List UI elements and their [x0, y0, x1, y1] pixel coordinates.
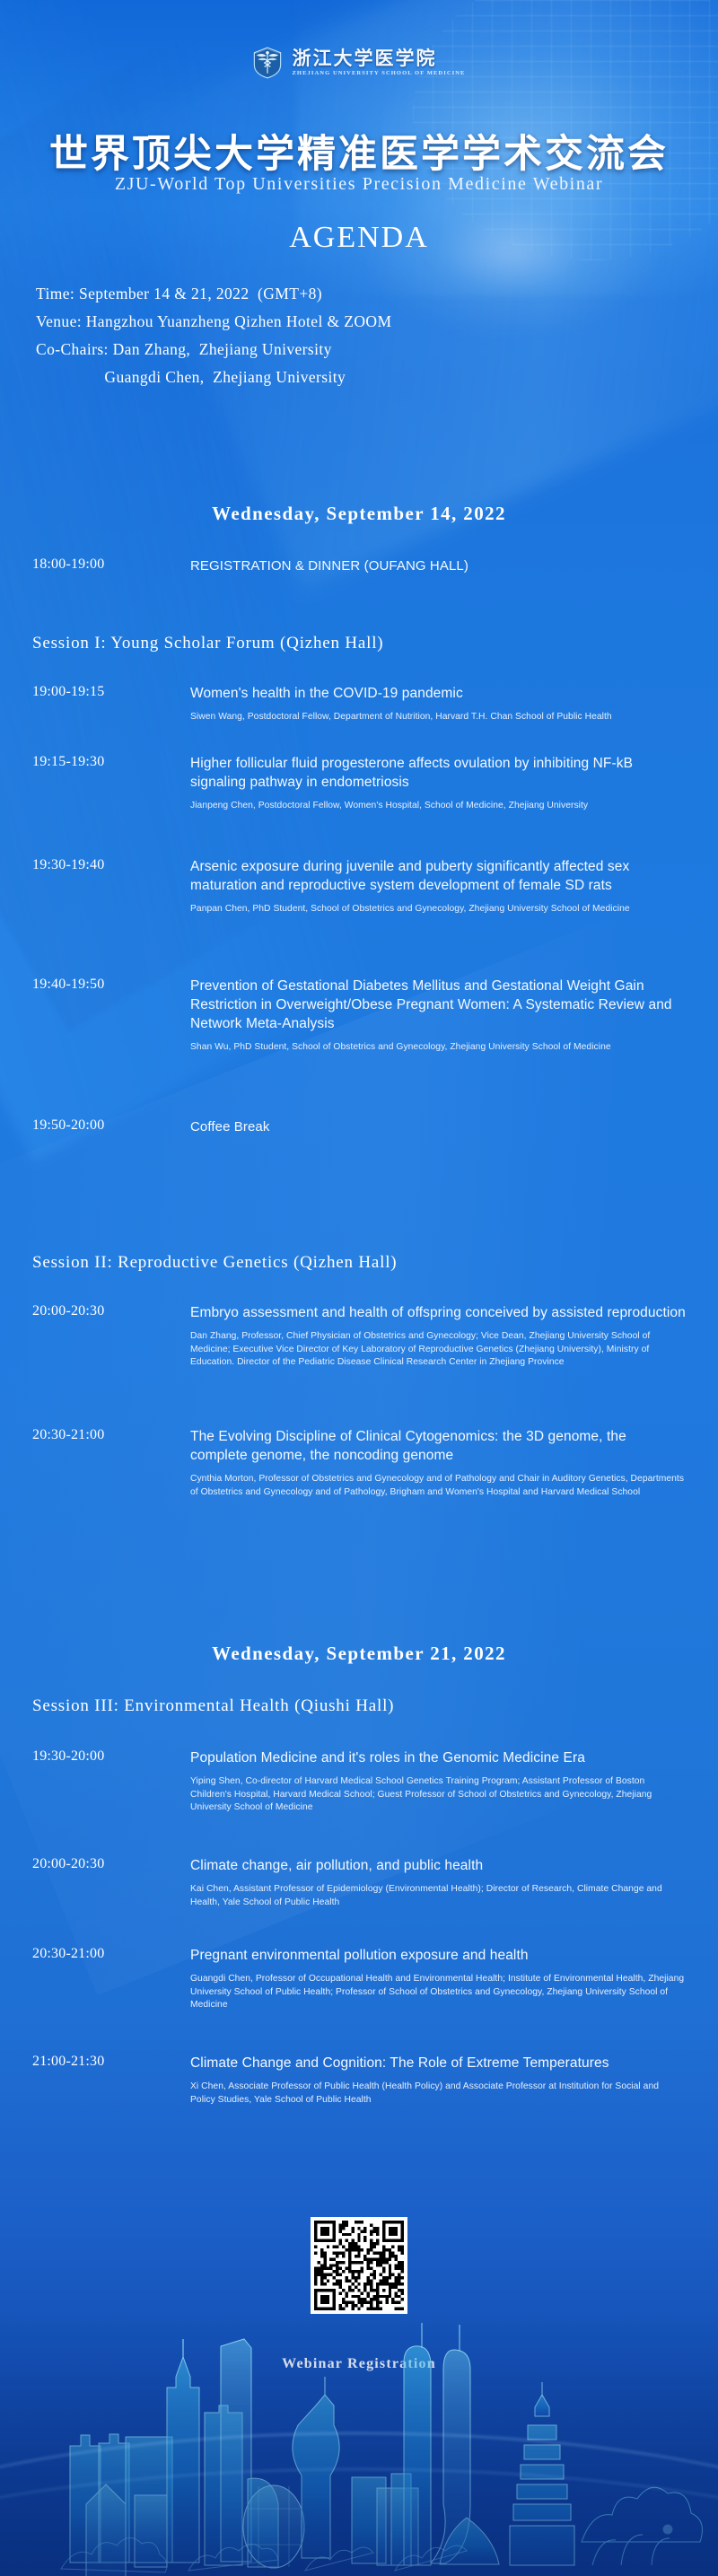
agenda-heading: AGENDA [0, 221, 718, 255]
talk-title: Prevention of Gestational Diabetes Melli… [190, 977, 686, 1033]
agenda-row-body: Higher follicular fluid progesterone aff… [190, 754, 686, 813]
session-heading-2: Session II: Reproductive Genetics (Qizhe… [32, 1253, 397, 1273]
talk-speaker: Jianpeng Chen, Postdoctoral Fellow, Wome… [190, 800, 686, 813]
poster-canvas: 浙江大学医学院 ZHEJIANG UNIVERSITY SCHOOL OF ME… [0, 0, 718, 2576]
day-heading-1: Wednesday, September 14, 2022 [0, 503, 718, 525]
talk-title: The Evolving Discipline of Clinical Cyto… [190, 1427, 686, 1465]
poster-title-chinese: 世界顶尖大学精准医学学术交流会 [0, 123, 718, 179]
talk-title: Arsenic exposure during juvenile and pub… [190, 857, 686, 895]
university-logo: 浙江大学医学院 ZHEJIANG UNIVERSITY SCHOOL OF ME… [0, 47, 718, 79]
agenda-row-time: 20:30-21:00 [32, 1946, 167, 1962]
agenda-row-body: Coffee Break [190, 1117, 686, 1136]
qr-code-image [314, 2221, 404, 2310]
talk-speaker: Siwen Wang, Postdoctoral Fellow, Departm… [190, 711, 686, 724]
agenda-row-time: 20:00-20:30 [32, 1303, 167, 1319]
talk-speaker: Kai Chen, Assistant Professor of Epidemi… [190, 1883, 686, 1909]
talk-title: Pregnant environmental pollution exposur… [190, 1946, 686, 1965]
talk-speaker: Shan Wu, PhD Student, School of Obstetri… [190, 1041, 686, 1055]
talk-title: Coffee Break [190, 1117, 686, 1136]
agenda-row-body: Prevention of Gestational Diabetes Melli… [190, 977, 686, 1055]
event-meta: Time: September 14 & 21, 2022 (GMT+8) Ve… [36, 280, 664, 391]
qr-code-block [0, 2217, 718, 2314]
agenda-row-body: Arsenic exposure during juvenile and pub… [190, 857, 686, 916]
skyline-arc-2 [0, 2468, 718, 2576]
event-cochair-2: Guangdi Chen, Zhejiang University [36, 364, 664, 391]
agenda-row-body: The Evolving Discipline of Clinical Cyto… [190, 1427, 686, 1499]
agenda-row-body: Embryo assessment and health of offsprin… [190, 1303, 686, 1370]
agenda-row-time: 19:00-19:15 [32, 684, 167, 700]
talk-speaker: Guangdi Chen, Professor of Occupational … [190, 1973, 686, 2012]
talk-speaker: Cynthia Morton, Professor of Obstetrics … [190, 1473, 686, 1499]
agenda-row-time: 19:15-19:30 [32, 754, 167, 770]
event-time: Time: September 14 & 21, 2022 (GMT+8) [36, 280, 664, 308]
agenda-row-time: 20:00-20:30 [32, 1856, 167, 1872]
poster-title-english: ZJU-World Top Universities Precision Med… [0, 174, 718, 195]
agenda-row-time: 19:50-20:00 [32, 1117, 167, 1134]
agenda-row-body: Climate Change and Cognition: The Role o… [190, 2054, 686, 2107]
talk-title: Population Medicine and it's roles in th… [190, 1748, 686, 1767]
agenda-row-time: 19:40-19:50 [32, 977, 167, 993]
agenda-row-body: REGISTRATION & DINNER (OUFANG HALL) [190, 556, 686, 575]
talk-speaker: Panpan Chen, PhD Student, School of Obst… [190, 903, 686, 916]
agenda-row-body: Women's health in the COVID-19 pandemic … [190, 684, 686, 724]
day-heading-2: Wednesday, September 21, 2022 [0, 1643, 718, 1665]
session-heading-1: Session I: Young Scholar Forum (Qizhen H… [32, 634, 383, 653]
talk-title: REGISTRATION & DINNER (OUFANG HALL) [190, 556, 686, 575]
session-heading-3: Session III: Environmental Health (Qiush… [32, 1696, 394, 1716]
agenda-row-time: 19:30-19:40 [32, 857, 167, 873]
event-venue: Venue: Hangzhou Yuanzheng Qizhen Hotel &… [36, 308, 664, 336]
talk-speaker: Dan Zhang, Professor, Chief Physician of… [190, 1330, 686, 1370]
qr-code[interactable] [311, 2217, 407, 2314]
city-skyline-illustration [0, 2307, 718, 2576]
caduceus-emblem-icon [252, 47, 283, 79]
logo-chinese-name: 浙江大学医学院 [292, 49, 465, 68]
logo-english-name: ZHEJIANG UNIVERSITY SCHOOL OF MEDICINE [292, 71, 465, 77]
talk-speaker: Yiping Shen, Co-director of Harvard Medi… [190, 1775, 686, 1815]
agenda-row-time: 18:00-19:00 [32, 556, 167, 573]
talk-speaker: Xi Chen, Associate Professor of Public H… [190, 2081, 686, 2107]
talk-title: Climate change, air pollution, and publi… [190, 1856, 686, 1875]
agenda-row-body: Climate change, air pollution, and publi… [190, 1856, 686, 1909]
talk-title: Climate Change and Cognition: The Role o… [190, 2054, 686, 2072]
talk-title: Higher follicular fluid progesterone aff… [190, 754, 686, 792]
agenda-row-time: 21:00-21:30 [32, 2054, 167, 2070]
agenda-row-time: 20:30-21:00 [32, 1427, 167, 1443]
agenda-row-time: 19:30-20:00 [32, 1748, 167, 1765]
agenda-row-body: Population Medicine and it's roles in th… [190, 1748, 686, 1815]
agenda-row-body: Pregnant environmental pollution exposur… [190, 1946, 686, 2012]
talk-title: Women's health in the COVID-19 pandemic [190, 684, 686, 703]
event-cochair-1: Co-Chairs: Dan Zhang, Zhejiang Universit… [36, 336, 664, 364]
talk-title: Embryo assessment and health of offsprin… [190, 1303, 686, 1322]
